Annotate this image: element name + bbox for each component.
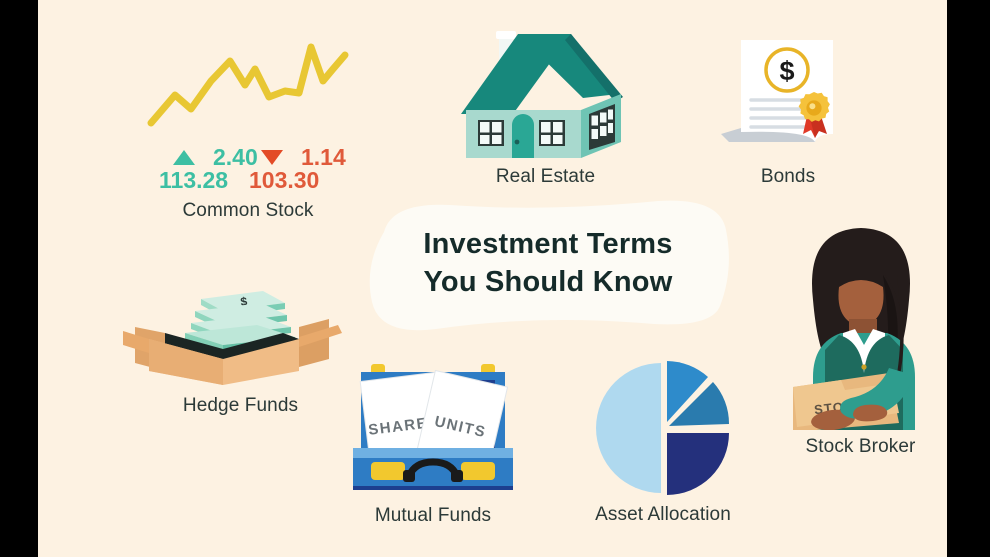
letterbox-bar-left	[0, 0, 38, 557]
page-title: Investment Terms You Should Know	[358, 226, 738, 301]
house-art	[433, 22, 658, 162]
center-title-block: Investment Terms You Should Know	[358, 196, 738, 336]
person-with-folder-icon: STOCKS	[753, 215, 947, 430]
stock-line-chart-art	[133, 25, 363, 140]
label-stock-broker: Stock Broker	[753, 436, 947, 458]
briefcase-art: SHARES UNITS	[313, 358, 553, 503]
item-real-estate: Real Estate	[433, 22, 658, 188]
label-common-stock: Common Stock	[133, 200, 363, 222]
item-asset-allocation: Asset Allocation	[543, 360, 783, 526]
screenshot-stage: 2.40 1.14 113.28 103.30 Common Stock	[0, 0, 990, 557]
quote-down-price: 103.30	[249, 167, 319, 194]
stock-trend-line-icon	[133, 25, 363, 140]
letterbox-bar-right	[947, 0, 990, 557]
label-asset-allocation: Asset Allocation	[543, 504, 783, 526]
pie-chart-icon	[543, 360, 783, 500]
infographic-canvas: 2.40 1.14 113.28 103.30 Common Stock	[38, 0, 947, 557]
pie-chart-art	[543, 360, 783, 500]
page-title-line-1: Investment Terms	[358, 226, 738, 264]
label-bonds: Bonds	[703, 166, 873, 188]
quote-down-price-row: 103.30	[249, 167, 319, 194]
svg-text:$: $	[779, 56, 794, 86]
bond-certificate-art: $	[703, 30, 873, 158]
briefcase-icon: SHARES UNITS	[313, 358, 553, 503]
quote-up-price: 113.28	[159, 167, 228, 194]
triangle-up-icon	[173, 150, 195, 165]
bond-certificate-icon: $	[703, 30, 873, 158]
triangle-down-icon	[261, 150, 283, 165]
item-bonds: $ Bonds	[703, 30, 873, 188]
label-mutual-funds: Mutual Funds	[313, 505, 553, 527]
quote-up-price-row: 113.28	[159, 167, 228, 194]
stock-quote-values: 2.40 1.14 113.28 103.30	[133, 142, 363, 194]
item-common-stock: 2.40 1.14 113.28 103.30 Common Stock	[133, 25, 363, 222]
page-title-line-2: You Should Know	[358, 264, 738, 302]
house-icon	[433, 22, 658, 162]
item-stock-broker: STOCKS Stock Broker	[753, 215, 947, 458]
stock-broker-art: STOCKS	[753, 215, 947, 430]
label-real-estate: Real Estate	[433, 166, 658, 188]
item-mutual-funds: SHARES UNITS Mutual Funds	[313, 358, 553, 527]
